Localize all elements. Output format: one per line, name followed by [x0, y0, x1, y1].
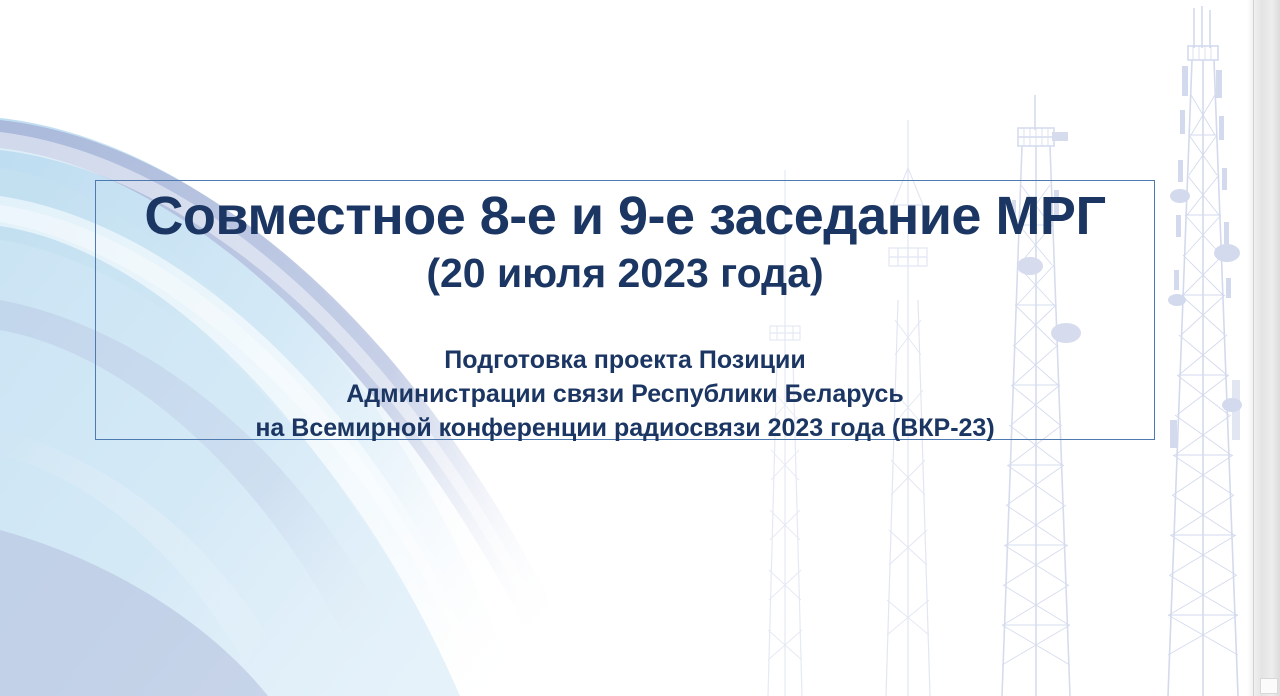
- dish-antenna: [1168, 294, 1186, 306]
- title-area: Совместное 8-е и 9-е заседание МРГ (20 и…: [96, 187, 1154, 299]
- panel-antenna: [1222, 168, 1227, 190]
- subtitle-line-2: Администрации связи Республики Беларусь: [96, 377, 1154, 411]
- panel-antenna: [1176, 215, 1181, 237]
- dish-antenna: [1214, 244, 1240, 262]
- scrollbar-divider: [1253, 0, 1254, 696]
- panel-antenna: [1224, 222, 1229, 244]
- resize-corner-button[interactable]: [1260, 678, 1278, 694]
- panel-antenna: [1219, 116, 1224, 140]
- panel-antenna: [1216, 70, 1222, 98]
- subtitle-area: Подготовка проекта Позиции Администрации…: [96, 343, 1154, 445]
- presentation-slide: Совместное 8-е и 9-е заседание МРГ (20 и…: [0, 0, 1280, 696]
- title-frame: Совместное 8-е и 9-е заседание МРГ (20 и…: [95, 180, 1155, 440]
- panel-antenna: [1182, 66, 1188, 96]
- subtitle-line-3: на Всемирной конференции радиосвязи 2023…: [96, 411, 1154, 445]
- panel-antenna: [1178, 160, 1183, 182]
- panel-antenna: [1226, 278, 1231, 298]
- tower-tall-right: [1168, 6, 1242, 696]
- dish-antenna: [1170, 189, 1190, 203]
- slide-title-main: Совместное 8-е и 9-е заседание МРГ: [96, 187, 1154, 245]
- vertical-scrollbar-strip[interactable]: [1247, 0, 1280, 696]
- panel-antenna: [1174, 270, 1179, 290]
- panel-antenna: [1180, 110, 1185, 134]
- dish-antenna: [1222, 398, 1242, 412]
- slide-title-date: (20 июля 2023 года): [96, 249, 1154, 298]
- subtitle-line-1: Подготовка проекта Позиции: [96, 343, 1154, 377]
